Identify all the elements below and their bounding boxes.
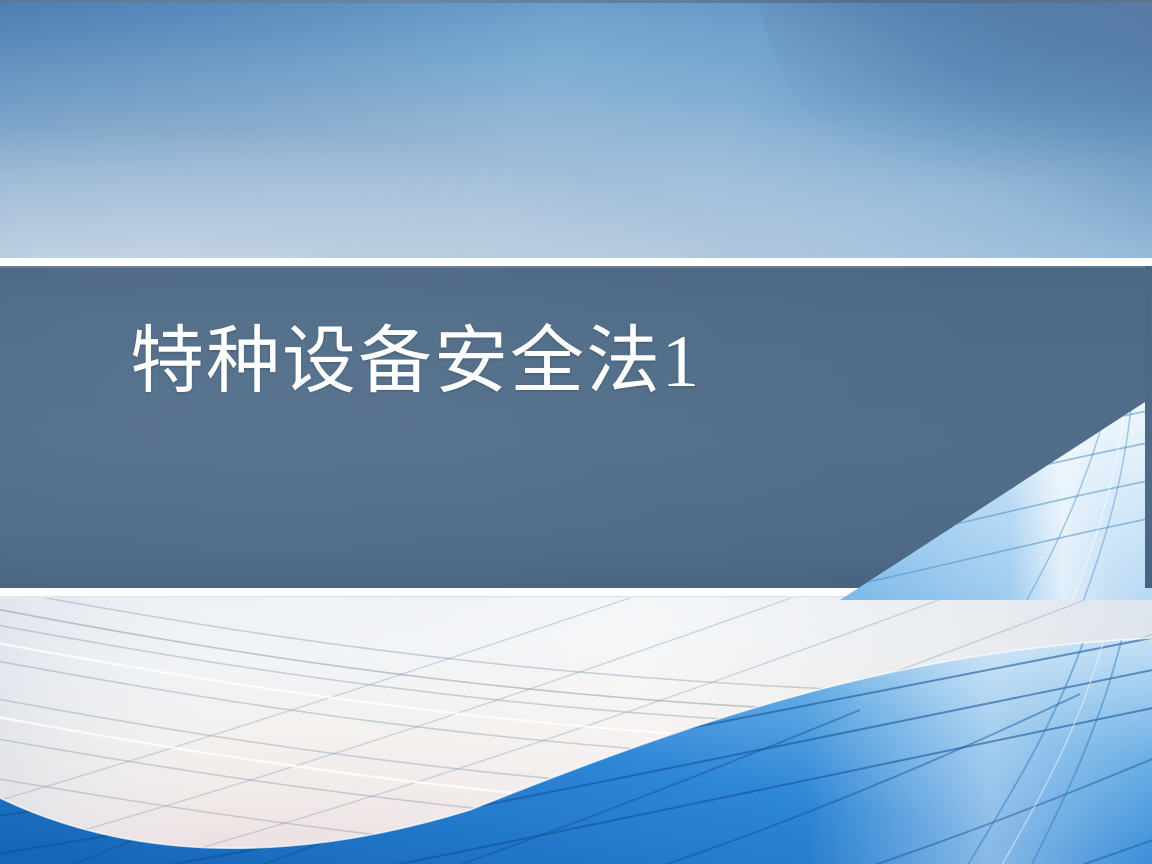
top-gradient-band (0, 0, 1152, 258)
slide-title-placeholder[interactable]: 特种设备安全法1 (130, 308, 1030, 418)
top-corner-glow (732, 0, 1152, 300)
bottom-mesh-artwork (0, 598, 1152, 864)
upper-white-divider (0, 258, 1152, 266)
top-hairline (0, 0, 1152, 3)
slide-title: 特种设备安全法1 (130, 324, 701, 402)
top-band-highlight (0, 0, 1152, 258)
title-band-top-edge (0, 266, 1152, 268)
top-corner-swoosh-icon (752, 0, 1152, 240)
presentation-slide: 特种设备安全法1 (0, 0, 1152, 864)
title-band-right-sliver (1145, 266, 1152, 588)
mesh-bottom-svg (0, 598, 1152, 864)
